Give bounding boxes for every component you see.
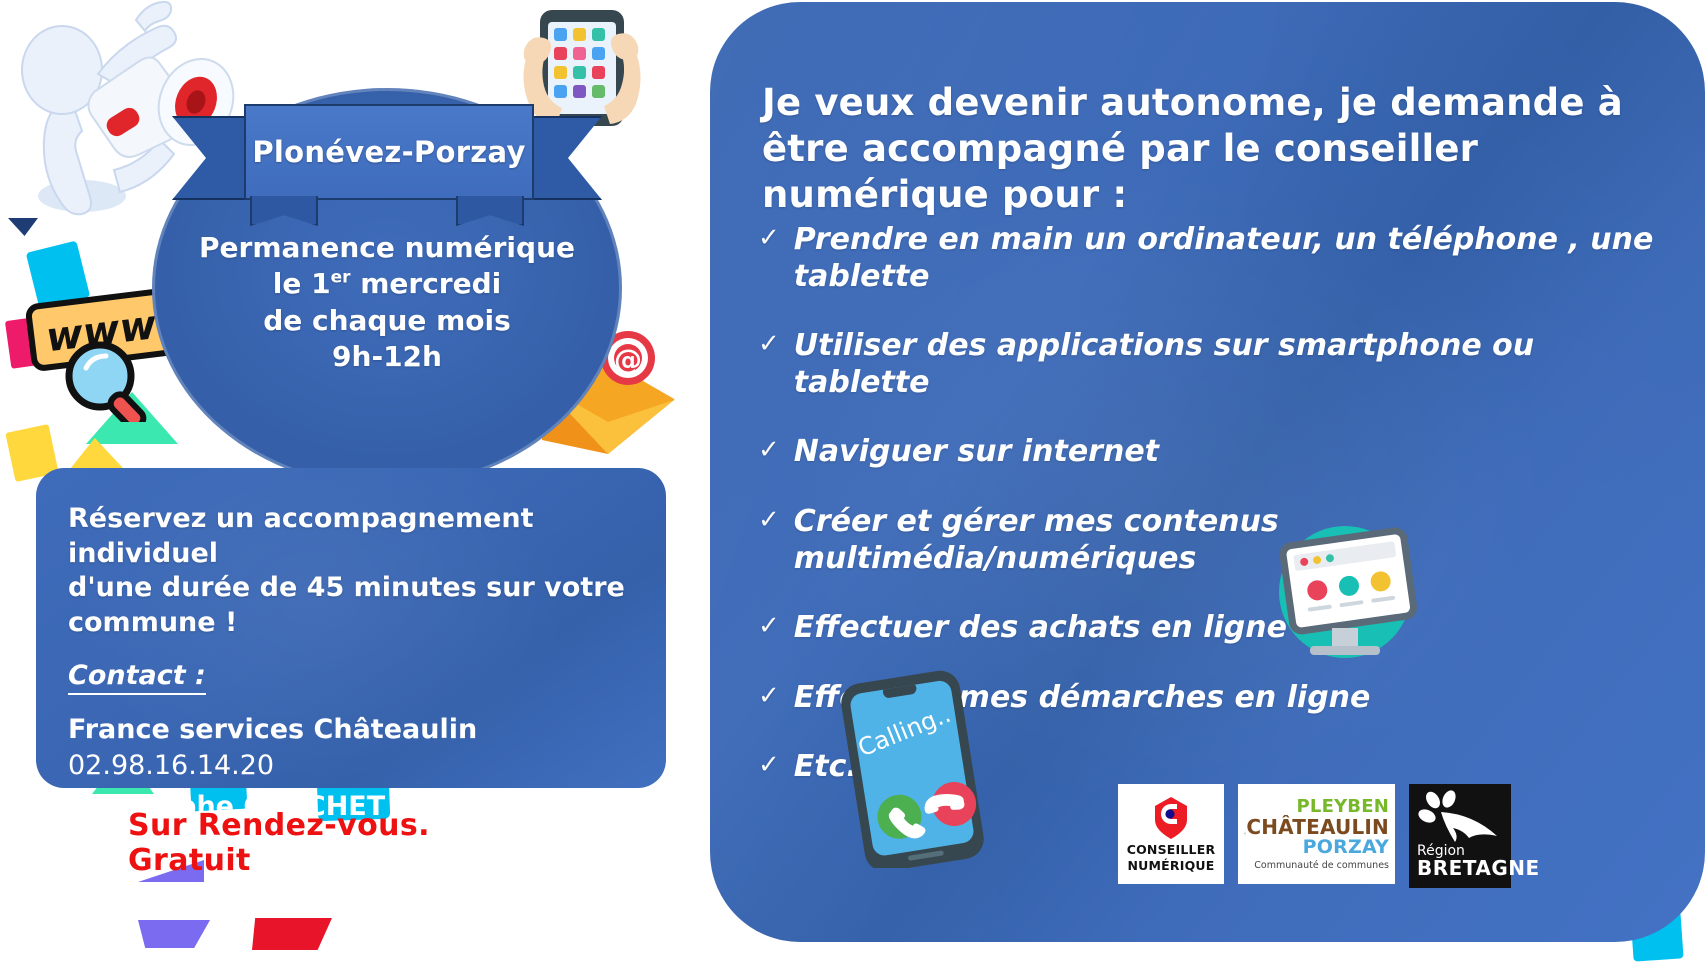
logo-bretagne-line-2: BRETAGNE xyxy=(1417,858,1540,879)
calling-phone-illustration: Calling.. xyxy=(828,668,998,868)
logo-conseiller-numerique: CONSEILLER NUMÉRIQUE xyxy=(1118,784,1224,884)
contact-label: Contact : xyxy=(68,660,206,695)
permanence-line-3: de chaque mois xyxy=(152,303,622,339)
location-pin-icon xyxy=(1151,795,1191,841)
logo-pleyben-chateaulin-porzay: PLEYBEN CHÂTEAULIN PORZAY Communauté de … xyxy=(1238,784,1395,884)
permanence-line-1: Permanence numérique xyxy=(152,230,622,266)
banner-fold-right xyxy=(456,196,524,226)
permanence-line-2: le 1er mercredi xyxy=(152,266,622,302)
banner-fold-left xyxy=(250,196,318,226)
logo-region-bretagne: Région BRETAGNE xyxy=(1409,784,1511,888)
permanence-line-2-pre: le 1 xyxy=(273,267,331,300)
permanence-line-2-post: mercredi xyxy=(350,267,501,300)
logo-cc-line-4: Communauté de communes xyxy=(1254,861,1389,871)
logo-row: CONSEILLER NUMÉRIQUE PLEYBEN CHÂTEAULIN … xyxy=(1118,784,1511,888)
confetti-red-shard xyxy=(252,918,332,950)
list-item-label: Prendre en main un ordinateur, un téléph… xyxy=(794,222,1663,295)
permanence-schedule: Permanence numérique le 1er mercredi de … xyxy=(152,230,622,376)
logo-conseiller-line-1: CONSEILLER xyxy=(1127,843,1216,857)
logo-cc-line-1: PLEYBEN xyxy=(1297,798,1389,816)
list-item: ✓ Créer et gérer mes contenus multimédia… xyxy=(758,504,1663,577)
check-icon: ✓ xyxy=(758,749,780,783)
poster-canvas: www @ Plonévez-Porzay xyxy=(0,0,1707,960)
reservation-line-2: d'une durée de 45 minutes sur votre xyxy=(68,571,634,606)
list-item: ✓ Utiliser des applications sur smartpho… xyxy=(758,328,1663,401)
reservation-line-1: Réservez un accompagnement individuel xyxy=(68,502,634,571)
hermine-icon xyxy=(1417,790,1501,846)
commune-banner: Plonévez-Porzay xyxy=(172,104,602,224)
permanence-ordinal-suffix: er xyxy=(331,268,351,288)
commune-name: Plonévez-Porzay xyxy=(252,135,525,169)
list-item-label: Utiliser des applications sur smartphone… xyxy=(794,328,1663,401)
list-item: ✓ Effectuer des achats en ligne xyxy=(758,610,1663,647)
reservation-line-3: commune ! xyxy=(68,606,634,641)
online-services-monitor-illustration xyxy=(1266,520,1424,672)
check-icon: ✓ xyxy=(758,328,780,362)
list-item-label: Naviguer sur internet xyxy=(794,434,1159,471)
contact-phone-0[interactable]: 02.98.16.14.20 xyxy=(68,750,274,781)
check-icon: ✓ xyxy=(758,434,780,468)
banner-plate: Plonévez-Porzay xyxy=(244,104,534,200)
check-icon: ✓ xyxy=(758,680,780,714)
check-icon: ✓ xyxy=(758,610,780,644)
confetti-purple-shard-2 xyxy=(138,920,210,948)
logo-conseiller-line-2: NUMÉRIQUE xyxy=(1128,859,1215,873)
logo-cc-line-3: PORZAY xyxy=(1303,838,1389,857)
contact-name-0: France services Châteaulin xyxy=(68,714,477,745)
check-icon: ✓ xyxy=(758,222,780,256)
list-item-label: Effectuer des achats en ligne xyxy=(794,610,1287,647)
list-item: ✓ Prendre en main un ordinateur, un télé… xyxy=(758,222,1663,295)
appointment-slogan: Sur Rendez-vous. Gratuit xyxy=(128,808,558,878)
list-item-label: Créer et gérer mes contenus multimédia/n… xyxy=(794,504,1663,577)
logo-cc-line-2: CHÂTEAULIN xyxy=(1246,817,1389,837)
list-item: ✓ Naviguer sur internet xyxy=(758,434,1663,471)
services-panel: Je veux devenir autonome, je demande à ê… xyxy=(710,2,1705,942)
contact-card: Réservez un accompagnement individuel d'… xyxy=(36,468,666,788)
check-icon: ✓ xyxy=(758,504,780,538)
services-heading: Je veux devenir autonome, je demande à ê… xyxy=(762,80,1662,218)
permanence-line-4: 9h-12h xyxy=(152,339,622,375)
contact-row-france-services: France services Châteaulin 02.98.16.14.2… xyxy=(68,712,634,783)
